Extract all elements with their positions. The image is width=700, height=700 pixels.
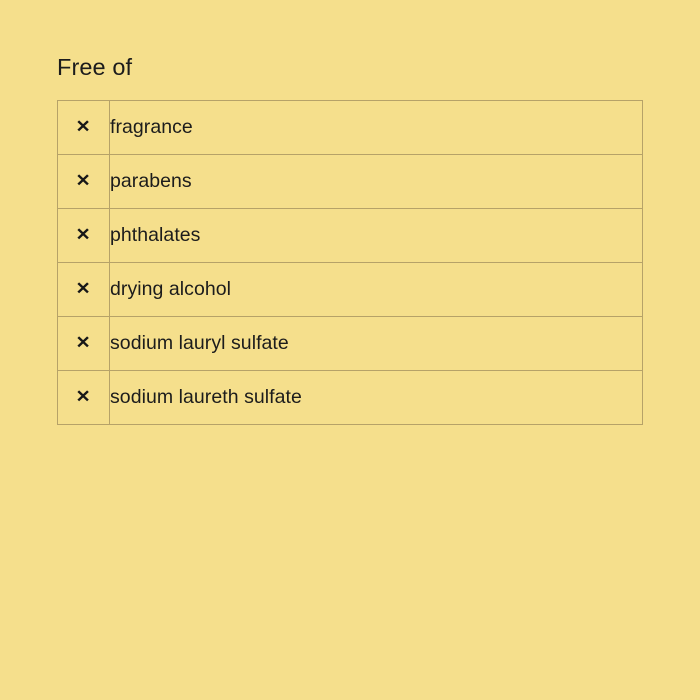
table-cell-label: phthalates (110, 209, 643, 263)
ingredient-label: fragrance (110, 116, 193, 138)
table-cell-label: sodium laureth sulfate (110, 371, 643, 425)
free-of-panel: Free of ✕ fragrance ✕ parabens (0, 0, 700, 700)
cross-mark-icon: ✕ (76, 226, 91, 243)
cross-mark-icon: ✕ (76, 118, 91, 135)
ingredient-label: drying alcohol (110, 278, 231, 300)
table-cell-label: sodium lauryl sulfate (110, 317, 643, 371)
table-row: ✕ parabens (58, 155, 643, 209)
table-row: ✕ drying alcohol (58, 263, 643, 317)
table-cell-mark: ✕ (58, 101, 110, 155)
table-row: ✕ fragrance (58, 101, 643, 155)
page-title: Free of (57, 53, 132, 81)
ingredient-label: sodium lauryl sulfate (110, 332, 289, 354)
table-cell-mark: ✕ (58, 209, 110, 263)
table-cell-mark: ✕ (58, 263, 110, 317)
cross-mark-icon: ✕ (76, 172, 91, 189)
ingredient-label: parabens (110, 170, 192, 192)
cross-mark-icon: ✕ (76, 280, 91, 297)
cross-mark-icon: ✕ (76, 388, 91, 405)
ingredient-label: sodium laureth sulfate (110, 386, 302, 408)
ingredient-label: phthalates (110, 224, 201, 246)
table-row: ✕ phthalates (58, 209, 643, 263)
table-cell-label: parabens (110, 155, 643, 209)
table-cell-mark: ✕ (58, 371, 110, 425)
free-of-table-body: ✕ fragrance ✕ parabens ✕ phtha (58, 101, 643, 425)
table-row: ✕ sodium laureth sulfate (58, 371, 643, 425)
table-row: ✕ sodium lauryl sulfate (58, 317, 643, 371)
table-cell-label: drying alcohol (110, 263, 643, 317)
table-cell-label: fragrance (110, 101, 643, 155)
cross-mark-icon: ✕ (76, 334, 91, 351)
table-cell-mark: ✕ (58, 155, 110, 209)
free-of-table: ✕ fragrance ✕ parabens ✕ phtha (57, 100, 643, 425)
table-cell-mark: ✕ (58, 317, 110, 371)
